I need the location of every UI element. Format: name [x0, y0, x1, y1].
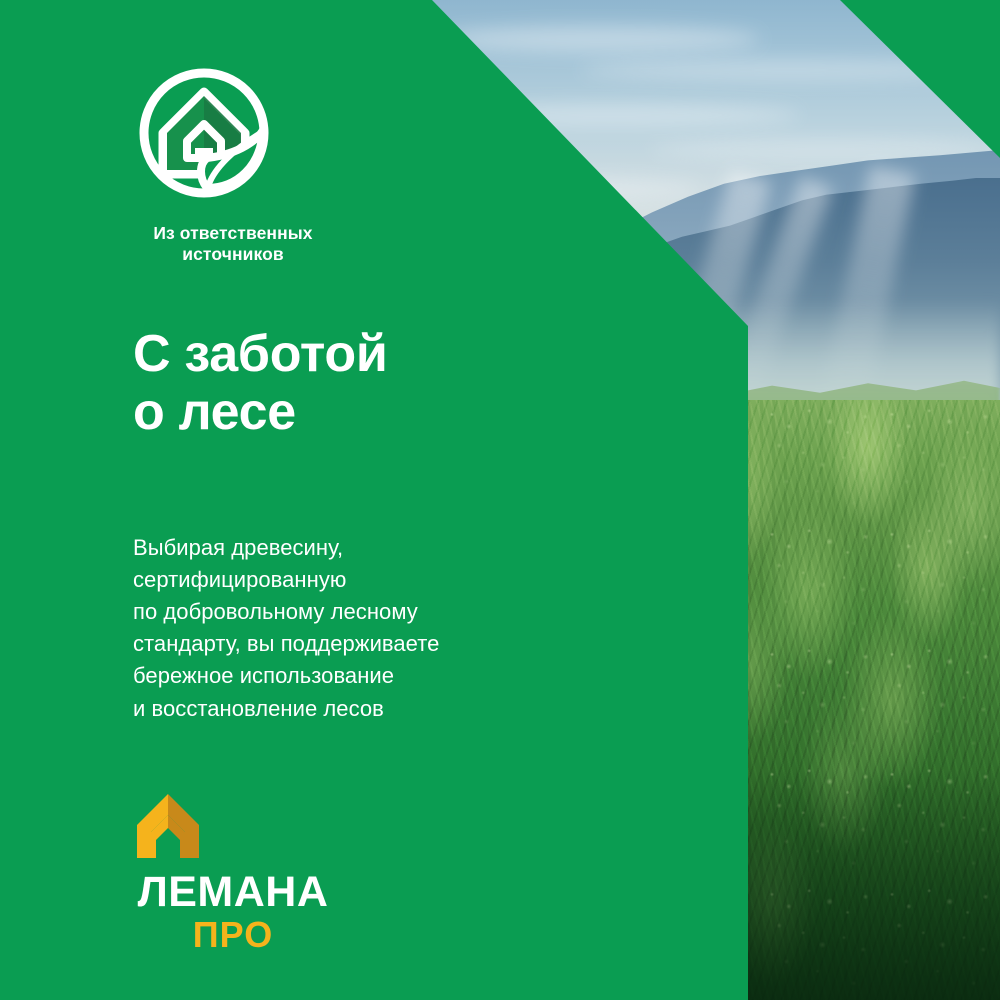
- badge-caption-line-1: Из ответственных: [133, 223, 333, 244]
- page-title: С заботой о лесе: [133, 325, 387, 441]
- certification-badge: Из ответственных источников: [133, 62, 333, 266]
- brand-name: ЛЕМАНА: [133, 871, 333, 914]
- poster-canvas: Из ответственных источников С заботой о …: [0, 0, 1000, 1000]
- badge-caption: Из ответственных источников: [133, 223, 333, 266]
- body-line-5: бережное использование: [133, 660, 439, 692]
- body-line-2: сертифицированную: [133, 564, 439, 596]
- badge-caption-line-2: источников: [133, 244, 333, 265]
- body-line-1: Выбирая древесину,: [133, 532, 439, 564]
- body-line-4: стандарту, вы поддерживаете: [133, 628, 439, 660]
- body-copy: Выбирая древесину, сертифицированную по …: [133, 532, 439, 725]
- body-line-6: и восстановление лесов: [133, 693, 439, 725]
- brand-sub: ПРО: [133, 917, 333, 953]
- body-line-3: по добровольному лесному: [133, 596, 439, 628]
- headline-line-2: о лесе: [133, 383, 387, 441]
- brand-lockup: ЛЕМАНА ПРО: [133, 792, 333, 953]
- house-roof-icon: [133, 792, 333, 865]
- house-leaf-circle-icon: [133, 62, 333, 209]
- headline-line-1: С заботой: [133, 325, 387, 383]
